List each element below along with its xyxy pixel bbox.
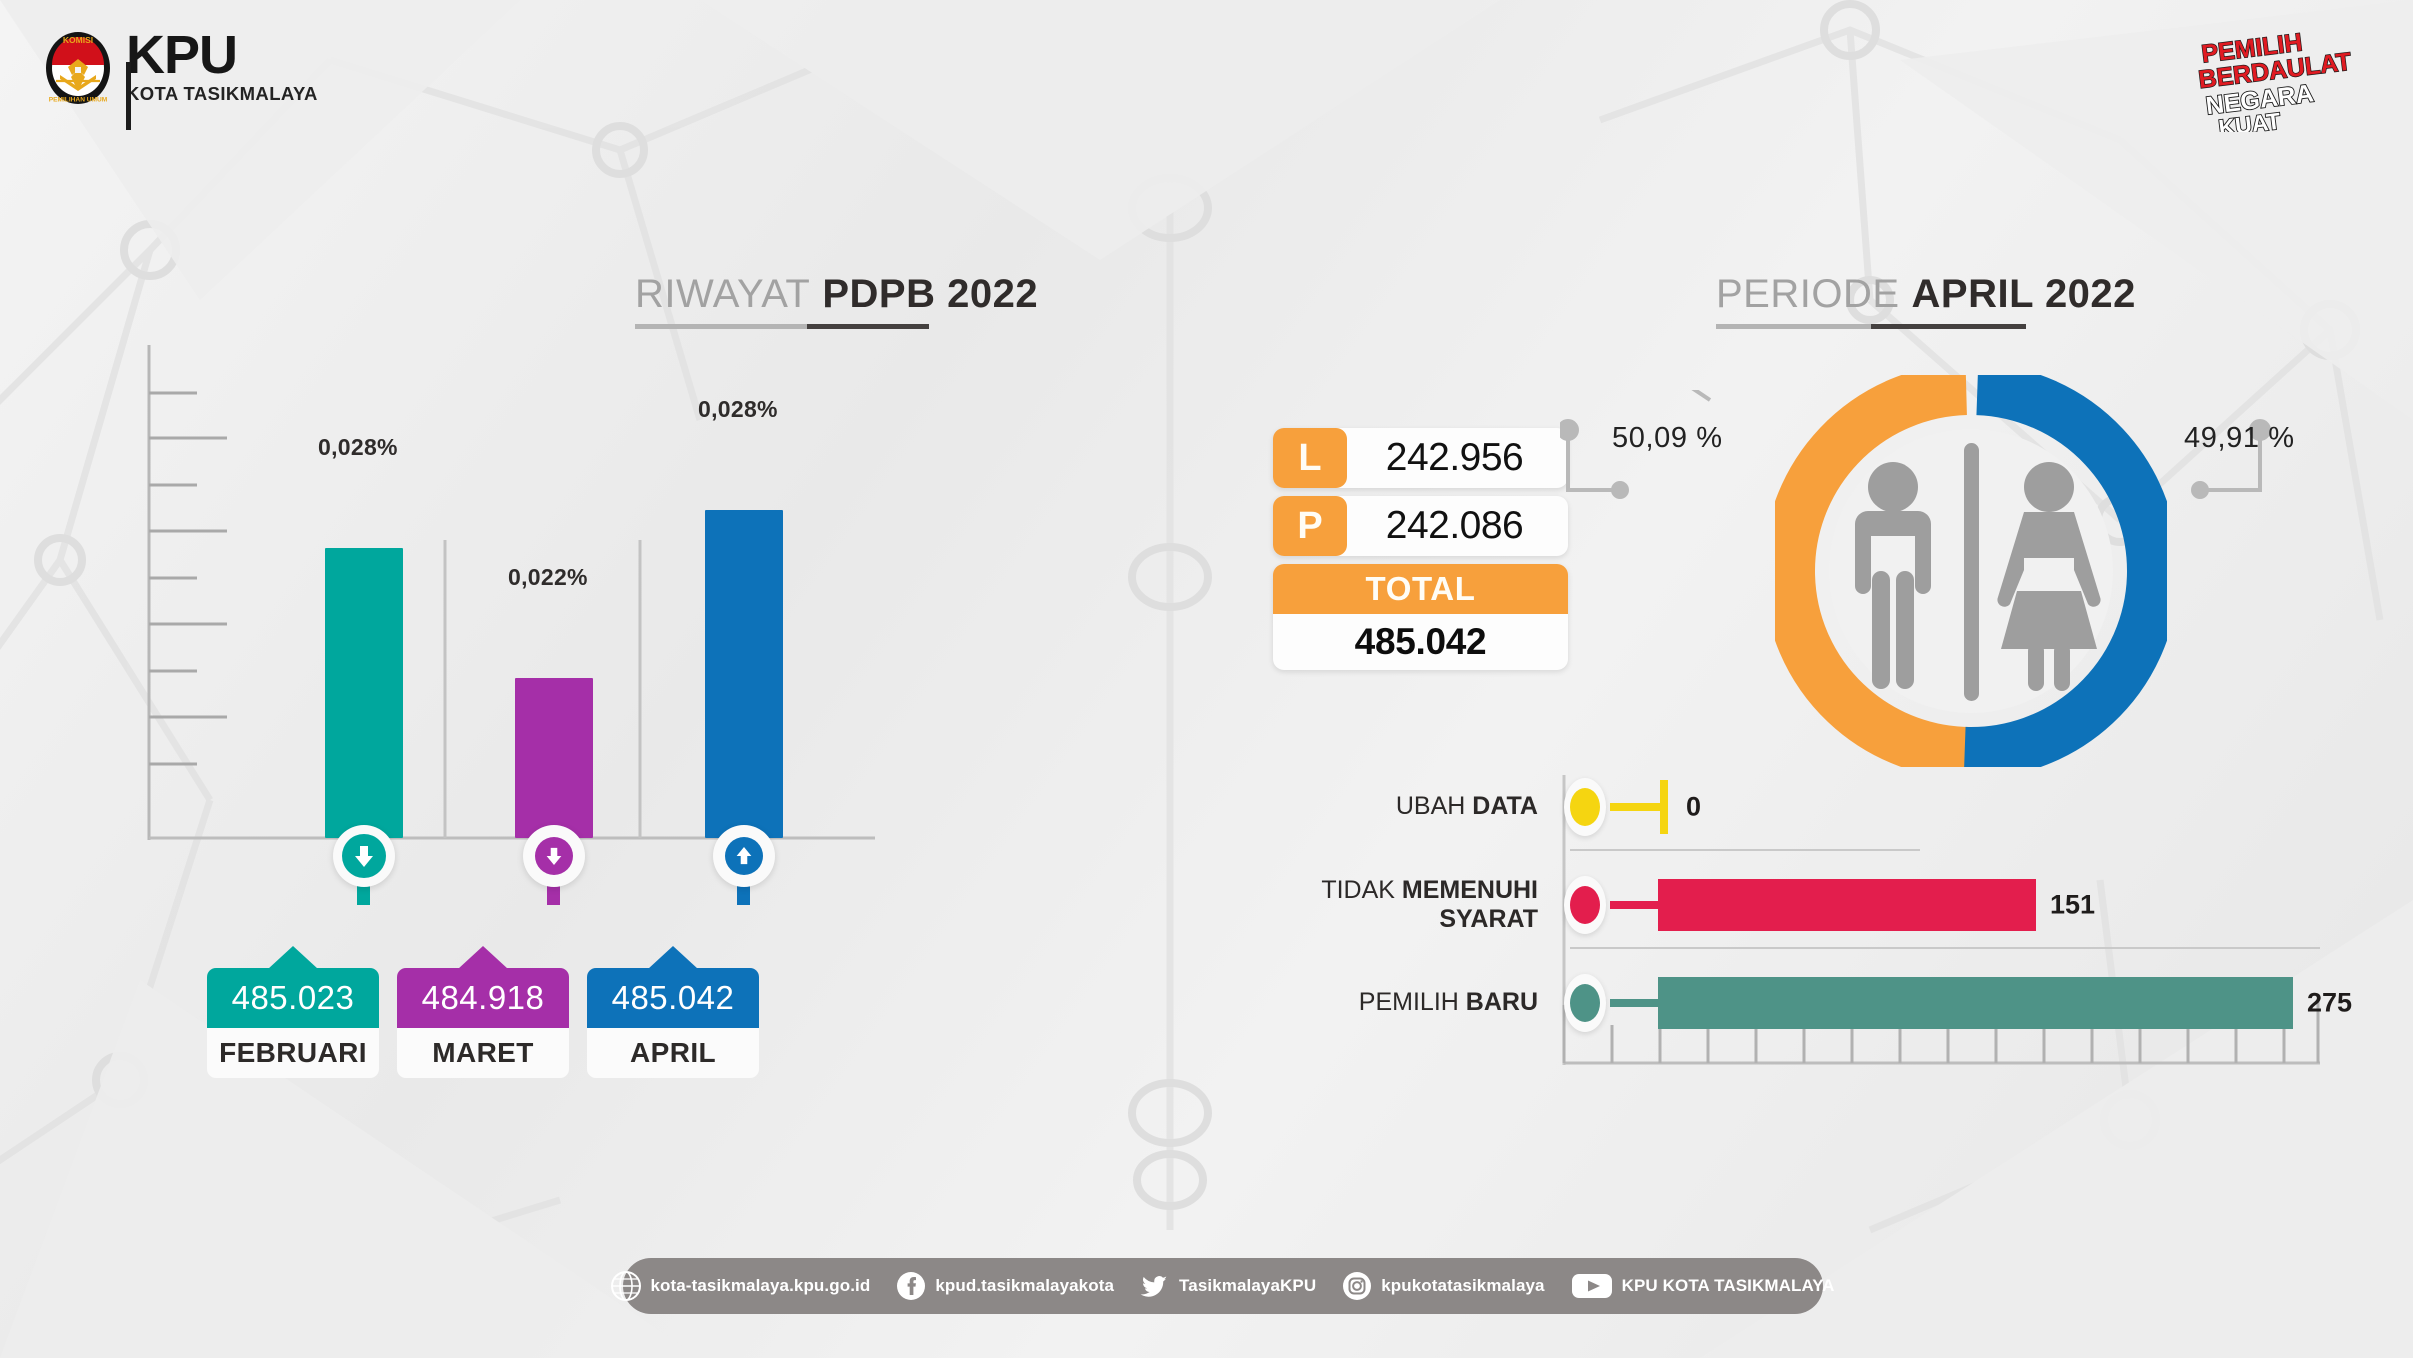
left-section-title: RIWAYAT PDPB 2022: [635, 272, 1038, 329]
donut-pct-male: 50,09 %: [1612, 422, 1723, 455]
month-value-februari: 485.023: [207, 968, 379, 1028]
month-card-februari[interactable]: 485.023 FEBRUARI: [207, 968, 379, 1078]
stat-value-female: 242.086: [1347, 504, 1568, 548]
hbar-label-light-1: TIDAK: [1321, 876, 1395, 904]
hbar-label-light-2: PEMILIH: [1359, 988, 1459, 1016]
bar-pct-april: 0,028%: [698, 396, 778, 423]
month-card-notch: [268, 946, 318, 969]
total-label: TOTAL: [1273, 564, 1568, 614]
instagram-icon: [1342, 1271, 1372, 1301]
hbar-dot-pemilih-baru[interactable]: [1560, 972, 1610, 1034]
right-section-title: PERIODE APRIL 2022: [1716, 272, 2136, 329]
hbar-connector-1: [1610, 901, 1660, 909]
globe-icon: [611, 1271, 641, 1301]
month-name-februari: FEBRUARI: [207, 1028, 379, 1078]
total-value: 485.042: [1273, 614, 1568, 670]
footer-text-twitter: TasikmalayaKPU: [1179, 1276, 1316, 1296]
campaign-slogan: PEMILIH BERDAULAT NEGARA KUAT: [2195, 22, 2385, 132]
month-name-maret: MARET: [397, 1028, 569, 1078]
arrow-down-icon: [353, 844, 375, 868]
month-card-notch: [648, 946, 698, 969]
left-title-light: RIWAYAT: [635, 272, 810, 317]
gender-total-stat-box: L 242.956 P 242.086 TOTAL 485.042: [1273, 428, 1568, 670]
stat-value-male: 242.956: [1347, 436, 1568, 480]
month-card-april[interactable]: 485.042 APRIL: [587, 968, 759, 1078]
hbar-row-tidak-memenuhi-syarat: TIDAK MEMENUHI SYARAT 151: [1230, 875, 2340, 935]
hbar-connector-0: [1610, 803, 1662, 811]
left-title-rule: [635, 324, 1038, 329]
hbar-dot-tidak-memenuhi-syarat[interactable]: [1560, 874, 1610, 936]
bar-pct-maret: 0,022%: [508, 564, 588, 591]
hbar-label-pemilih-baru: PEMILIH BARU: [1230, 988, 1560, 1018]
month-name-april: APRIL: [587, 1028, 759, 1078]
bar-rect-april: [705, 510, 783, 838]
stat-row-female: P 242.086: [1273, 496, 1568, 556]
footer-text-instagram: kpukotatasikmalaya: [1381, 1276, 1544, 1296]
facebook-icon: [896, 1271, 926, 1301]
svg-text:KOMISI: KOMISI: [63, 35, 93, 45]
arrow-down-icon: [545, 846, 563, 866]
arrow-up-icon: [735, 846, 753, 866]
bar-chart-axes: [135, 345, 1095, 905]
donut-pct-female: 49,91 %: [2184, 422, 2295, 455]
bar-pct-februari: 0,028%: [318, 434, 398, 461]
logo-wordmark: KPU: [126, 30, 318, 81]
hbar-connector-2: [1610, 999, 1660, 1007]
right-title-light: PERIODE: [1716, 272, 1900, 317]
footer-item-twitter[interactable]: TasikmalayaKPU: [1140, 1271, 1316, 1301]
hbar-bar-pemilih-baru: [1658, 977, 2293, 1029]
month-card-notch: [458, 946, 508, 969]
trend-badge-februari[interactable]: [333, 825, 395, 887]
hbar-value-ubah-data: 0: [1686, 792, 1701, 823]
footer-item-youtube[interactable]: KPU KOTA TASIKMALAYA: [1571, 1271, 1835, 1301]
infographic-canvas: KOMISI PEMILIHAN UMUM KPU KOTA TASIKMALA…: [0, 0, 2413, 1358]
stat-key-male: L: [1273, 428, 1347, 488]
kpu-emblem-icon: KOMISI PEMILIHAN UMUM: [44, 31, 112, 105]
twitter-icon: [1140, 1271, 1170, 1301]
hbar-label-tidak-memenuhi-syarat: TIDAK MEMENUHI SYARAT: [1230, 876, 1560, 935]
gender-donut-chart: [1775, 375, 2167, 767]
hbar-value-pemilih-baru: 275: [2307, 988, 2352, 1019]
hbar-label-bold-0: DATA: [1472, 792, 1538, 820]
stat-row-total: TOTAL 485.042: [1273, 564, 1568, 670]
hbar-label-ubah-data: UBAH DATA: [1230, 792, 1560, 822]
right-title-rule: [1716, 324, 2136, 329]
hbar-label-bold-1: MEMENUHI SYARAT: [1402, 876, 1538, 934]
hbar-zero-cap-0: [1660, 780, 1668, 834]
bar-rect-februari: [325, 548, 403, 838]
hbar-label-bold-2: BARU: [1466, 988, 1538, 1016]
gender-divider-bar: [1964, 443, 1979, 701]
footer-item-facebook[interactable]: kpud.tasikmalayakota: [896, 1271, 1114, 1301]
stat-row-male: L 242.956: [1273, 428, 1568, 488]
footer-text-website: kota-tasikmalaya.kpu.go.id: [650, 1276, 870, 1296]
stat-key-female: P: [1273, 496, 1347, 556]
youtube-icon: [1571, 1271, 1613, 1301]
right-title-bold: APRIL 2022: [1912, 272, 2136, 317]
bar-column-april: 0,028%: [705, 440, 783, 838]
month-value-maret: 484.918: [397, 968, 569, 1028]
hbar-dot-ubah-data[interactable]: [1560, 776, 1610, 838]
month-card-maret[interactable]: 484.918 MARET: [397, 968, 569, 1078]
svg-text:PEMILIHAN UMUM: PEMILIHAN UMUM: [49, 96, 108, 103]
footer-item-instagram[interactable]: kpukotatasikmalaya: [1342, 1271, 1544, 1301]
bar-rect-maret: [515, 678, 593, 838]
hbar-label-light-0: UBAH: [1396, 792, 1465, 820]
footer-text-facebook: kpud.tasikmalayakota: [935, 1276, 1114, 1296]
hbar-bar-tidak-memenuhi-syarat: [1658, 879, 2036, 931]
pdpb-history-bar-chart: 0,028% 0,022% 0,028%: [135, 345, 1095, 905]
logo-subtitle: KOTA TASIKMALAYA: [126, 83, 318, 105]
voter-change-bar-list: UBAH DATA 0 TIDAK MEMENUHI SYARAT: [1230, 775, 2340, 1115]
trend-badge-maret[interactable]: [523, 825, 585, 887]
footer-item-website[interactable]: kota-tasikmalaya.kpu.go.id: [611, 1271, 870, 1301]
trend-badge-april[interactable]: [713, 825, 775, 887]
left-title-bold: PDPB 2022: [822, 272, 1038, 317]
logo-divider: [126, 62, 131, 130]
social-footer-bar: kota-tasikmalaya.kpu.go.id kpud.tasikmal…: [623, 1258, 1823, 1314]
bar-column-februari: 0,028%: [325, 478, 403, 838]
hbar-value-tidak-memenuhi-syarat: 151: [2050, 890, 2095, 921]
hbar-row-pemilih-baru: PEMILIH BARU 275: [1230, 973, 2340, 1033]
footer-text-youtube: KPU KOTA TASIKMALAYA: [1622, 1276, 1835, 1296]
bar-column-maret: 0,022%: [515, 608, 593, 838]
kpu-logo: KOMISI PEMILIHAN UMUM KPU KOTA TASIKMALA…: [44, 30, 318, 105]
hbar-row-ubah-data: UBAH DATA 0: [1230, 777, 2340, 837]
month-value-april: 485.042: [587, 968, 759, 1028]
